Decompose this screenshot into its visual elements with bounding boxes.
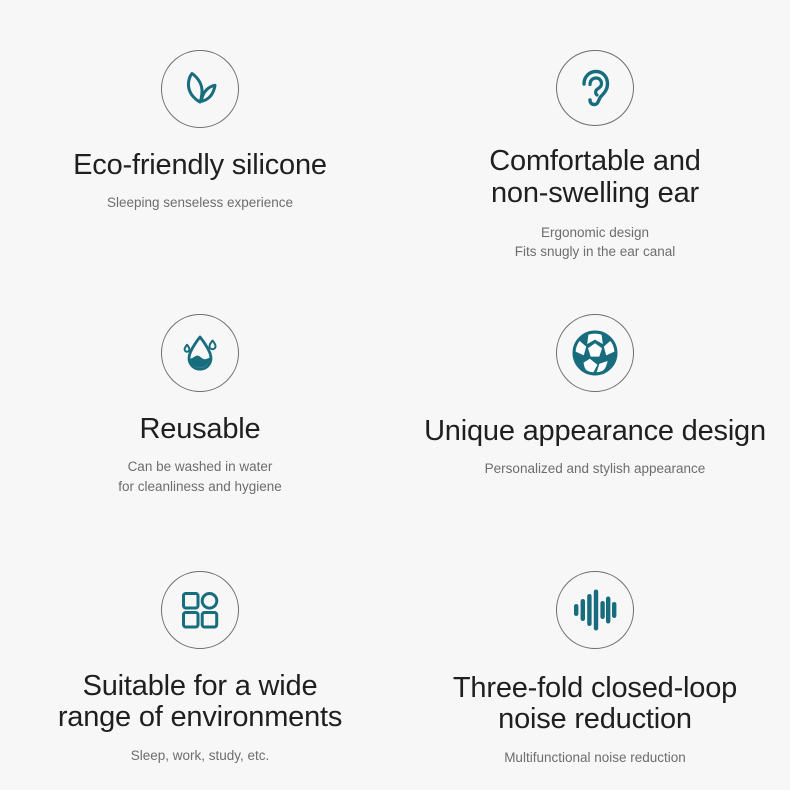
feature-subtitle: Ergonomic design Fits snugly in the ear … bbox=[515, 223, 676, 262]
feature-card-reusable: Reusable Can be washed in water for clea… bbox=[0, 262, 400, 516]
icon-ring-leaf bbox=[161, 50, 239, 128]
icon-ring-soccer-ball bbox=[556, 314, 634, 392]
feature-title: Reusable bbox=[140, 414, 261, 445]
feature-grid: Eco-friendly silicone Sleeping senseless… bbox=[0, 0, 790, 790]
feature-title: Comfortable and non-swelling ear bbox=[489, 146, 700, 209]
feature-subtitle: Sleep, work, study, etc. bbox=[131, 746, 270, 766]
feature-card-comfortable-non-swelling-ear: Comfortable and non-swelling ear Ergonom… bbox=[400, 0, 790, 262]
feature-title: Suitable for a wide range of environment… bbox=[58, 671, 342, 734]
ear-icon bbox=[573, 65, 617, 111]
feature-subtitle: Multifunctional noise reduction bbox=[504, 748, 686, 768]
feature-title: Eco-friendly silicone bbox=[73, 150, 327, 181]
feature-card-three-fold-noise-reduction: Three-fold closed-loop noise reduction M… bbox=[400, 516, 790, 790]
water-drop-icon bbox=[177, 330, 223, 376]
soccer-ball-icon bbox=[571, 329, 619, 377]
feature-card-suitable-wide-range-environments: Suitable for a wide range of environment… bbox=[0, 516, 400, 790]
feature-title: Three-fold closed-loop noise reduction bbox=[453, 673, 737, 736]
icon-ring-ear bbox=[556, 50, 634, 126]
leaf-icon bbox=[177, 66, 223, 112]
icon-ring-sound-wave bbox=[556, 571, 634, 649]
icon-ring-grid-shapes bbox=[161, 571, 239, 649]
feature-card-unique-appearance-design: Unique appearance design Personalized an… bbox=[400, 262, 790, 516]
feature-card-eco-friendly-silicone: Eco-friendly silicone Sleeping senseless… bbox=[0, 0, 400, 262]
feature-subtitle: Sleeping senseless experience bbox=[107, 193, 293, 213]
icon-ring-water-drop bbox=[161, 314, 239, 392]
sound-wave-icon bbox=[572, 588, 618, 632]
feature-title: Unique appearance design bbox=[424, 416, 766, 447]
feature-subtitle: Can be washed in water for cleanliness a… bbox=[118, 457, 282, 496]
grid-shapes-icon bbox=[178, 588, 222, 632]
feature-subtitle: Personalized and stylish appearance bbox=[485, 459, 706, 479]
